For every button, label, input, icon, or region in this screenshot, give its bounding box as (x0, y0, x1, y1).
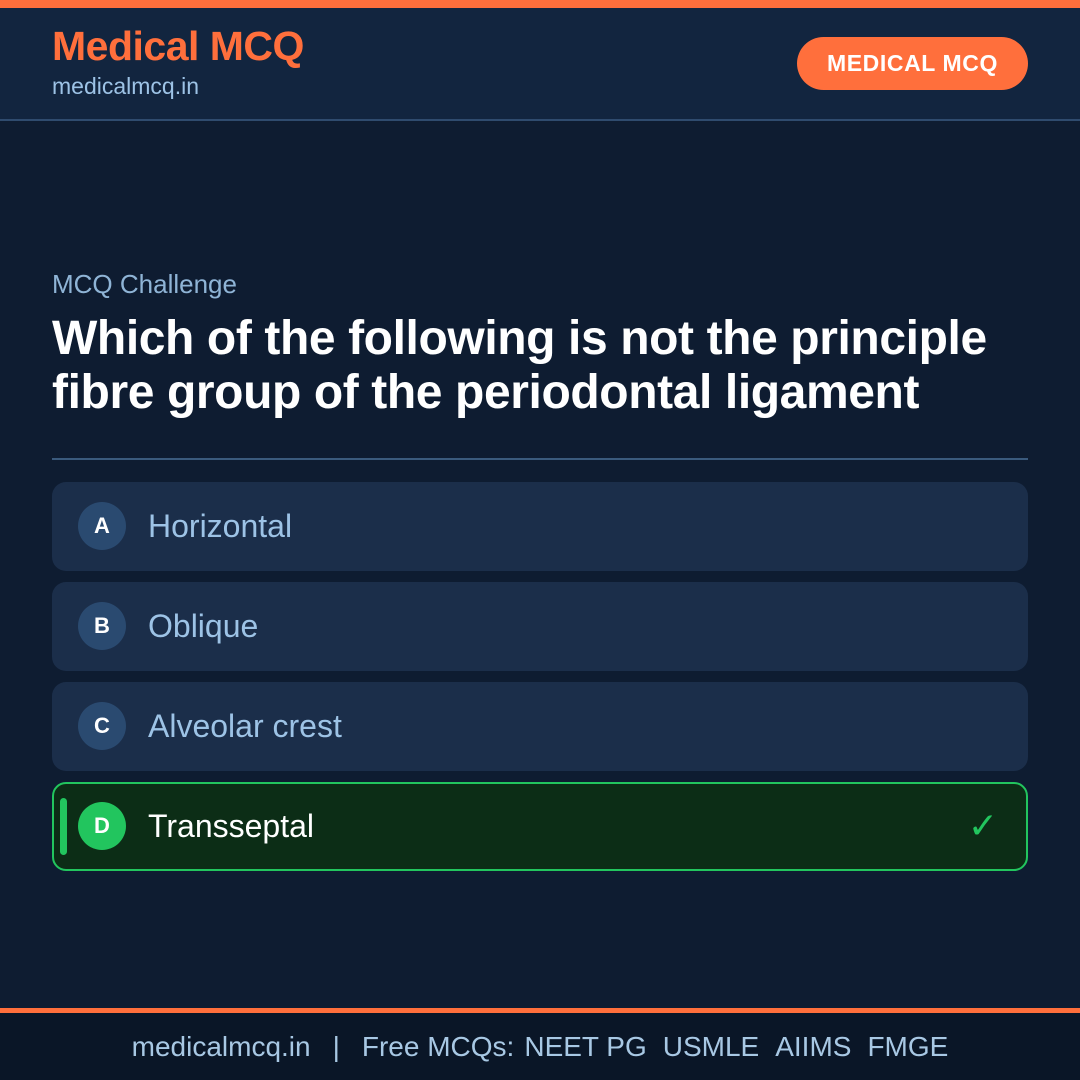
check-icon: ✓ (968, 808, 998, 844)
main-content: MCQ Challenge Which of the following is … (0, 121, 1080, 1008)
option-row-d[interactable]: D Transseptal ✓ (52, 782, 1028, 871)
option-row-a[interactable]: A Horizontal (52, 482, 1028, 571)
header-badge: MEDICAL MCQ (797, 37, 1028, 90)
footer-exam-usmle: USMLE (663, 1031, 759, 1063)
question-kicker: MCQ Challenge (52, 269, 1028, 300)
option-letter-badge: C (78, 702, 126, 750)
footer-label: Free MCQs: (362, 1031, 514, 1063)
option-letter-badge: B (78, 602, 126, 650)
brand-subtitle: medicalmcq.in (52, 71, 304, 102)
header: Medical MCQ medicalmcq.in MEDICAL MCQ (0, 8, 1080, 121)
option-label: Oblique (148, 609, 258, 644)
option-letter-badge: A (78, 502, 126, 550)
question-divider (52, 458, 1028, 460)
option-row-c[interactable]: C Alveolar crest (52, 682, 1028, 771)
footer-exam-fmge: FMGE (867, 1031, 948, 1063)
brand: Medical MCQ medicalmcq.in (52, 25, 304, 101)
brand-title: Medical MCQ (52, 25, 304, 68)
option-label: Alveolar crest (148, 709, 342, 744)
footer-site: medicalmcq.in (132, 1031, 311, 1063)
top-accent-bar (0, 0, 1080, 8)
footer-separator: | (333, 1031, 340, 1063)
question-text: Which of the following is not the princi… (52, 312, 1012, 420)
mcq-card: Medical MCQ medicalmcq.in MEDICAL MCQ MC… (0, 0, 1080, 1080)
options-list: A Horizontal B Oblique C Alveolar crest … (52, 482, 1028, 871)
correct-accent-bar (60, 798, 67, 855)
footer: medicalmcq.in | Free MCQs: NEET PG USMLE… (0, 1008, 1080, 1080)
option-label: Horizontal (148, 509, 292, 544)
option-letter-badge: D (78, 802, 126, 850)
footer-content: medicalmcq.in | Free MCQs: NEET PG USMLE… (132, 1031, 949, 1063)
option-row-b[interactable]: B Oblique (52, 582, 1028, 671)
question-block: MCQ Challenge Which of the following is … (52, 269, 1028, 420)
option-label: Transseptal (148, 809, 314, 844)
footer-exam-neet-pg: NEET PG (524, 1031, 646, 1063)
footer-exam-aiims: AIIMS (775, 1031, 851, 1063)
